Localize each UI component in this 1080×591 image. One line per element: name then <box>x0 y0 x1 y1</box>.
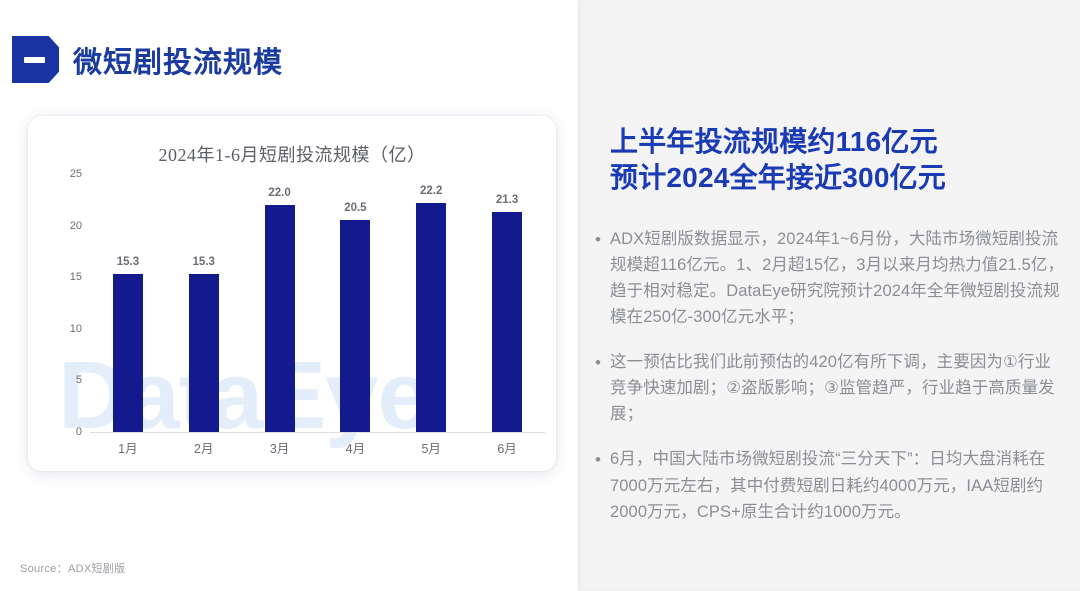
right-panel: 上半年投流规模约116亿元 预计2024全年接近300亿元 •ADX短剧版数据显… <box>578 0 1080 591</box>
y-axis: 2520151050 <box>28 116 90 471</box>
y-axis-tick: 5 <box>76 374 82 386</box>
x-axis-tick: 6月 <box>475 438 539 457</box>
bullet-dot-icon: • <box>586 446 610 473</box>
y-axis-tick: 15 <box>70 271 82 283</box>
bullet-dot-icon: • <box>586 349 610 376</box>
y-axis-tick: 10 <box>70 323 82 335</box>
chart-card: 2024年1-6月短剧投流规模（亿） DataEye 2520151050 15… <box>28 116 556 471</box>
bar-value-label: 20.5 <box>323 202 387 214</box>
y-axis-tick: 20 <box>70 220 82 232</box>
x-axis-tick: 5月 <box>399 438 463 457</box>
bar-column: 22.2 <box>399 174 463 432</box>
left-panel: 微短剧投流规模 2024年1-6月短剧投流规模（亿） DataEye 25201… <box>0 0 578 591</box>
bar-column: 21.3 <box>475 174 539 432</box>
bar-series: 15.315.322.020.522.221.3 <box>90 174 545 432</box>
bar-rect <box>340 220 370 432</box>
bar-rect <box>492 212 522 432</box>
bar-value-label: 22.2 <box>399 185 463 197</box>
bar-rect <box>113 274 143 432</box>
bar-column: 15.3 <box>96 174 160 432</box>
bar-value-label: 15.3 <box>172 256 236 268</box>
bullet-item: •这一预估比我们此前预估的420亿有所下调，主要因为①行业竞争快速加剧；②盗版影… <box>586 349 1076 427</box>
bar-column: 22.0 <box>248 174 312 432</box>
bar-column: 20.5 <box>323 174 387 432</box>
dash-glyph <box>24 57 45 63</box>
bullet-text: ADX短剧版数据显示，2024年1~6月份，大陆市场微短剧投流规模超116亿元。… <box>610 226 1076 330</box>
heading-line-1: 上半年投流规模约116亿元 <box>610 124 1062 160</box>
page-title: 微短剧投流规模 <box>73 39 283 81</box>
x-axis-tick: 1月 <box>96 438 160 457</box>
y-axis-tick: 0 <box>76 426 82 438</box>
bullet-dot-icon: • <box>586 226 610 253</box>
bar-rect <box>265 205 295 432</box>
bullet-item: •ADX短剧版数据显示，2024年1~6月份，大陆市场微短剧投流规模超116亿元… <box>586 226 1076 330</box>
bar-value-label: 15.3 <box>96 256 160 268</box>
x-axis-labels: 1月2月3月4月5月6月 <box>90 438 545 457</box>
x-axis-line <box>90 432 545 433</box>
right-panel-heading: 上半年投流规模约116亿元 预计2024全年接近300亿元 <box>610 124 1062 197</box>
slide-header: 微短剧投流规模 <box>12 36 283 83</box>
bullet-item: •6月，中国大陆市场微短剧投流“三分天下”：日均大盘消耗在7000万元左右，其中… <box>586 446 1076 524</box>
y-axis-tick: 25 <box>70 168 82 180</box>
slide-root: 微短剧投流规模 2024年1-6月短剧投流规模（亿） DataEye 25201… <box>0 0 1080 591</box>
bar-value-label: 22.0 <box>248 187 312 199</box>
bullet-text: 这一预估比我们此前预估的420亿有所下调，主要因为①行业竞争快速加剧；②盗版影响… <box>610 349 1076 427</box>
bar-value-label: 21.3 <box>475 194 539 206</box>
bar-chart-plot: 2520151050 15.315.322.020.522.221.3 1月2月… <box>28 116 556 471</box>
bar-column: 15.3 <box>172 174 236 432</box>
heading-line-2: 预计2024全年接近300亿元 <box>610 160 1062 196</box>
bar-rect <box>189 274 219 432</box>
bullet-text: 6月，中国大陆市场微短剧投流“三分天下”：日均大盘消耗在7000万元左右，其中付… <box>610 446 1076 524</box>
x-axis-tick: 2月 <box>172 438 236 457</box>
x-axis-tick: 4月 <box>323 438 387 457</box>
dash-badge-icon <box>12 36 59 83</box>
bullet-list: •ADX短剧版数据显示，2024年1~6月份，大陆市场微短剧投流规模超116亿元… <box>586 226 1076 544</box>
x-axis-tick: 3月 <box>248 438 312 457</box>
bar-rect <box>416 203 446 432</box>
source-note: Source：ADX短剧版 <box>20 560 125 576</box>
